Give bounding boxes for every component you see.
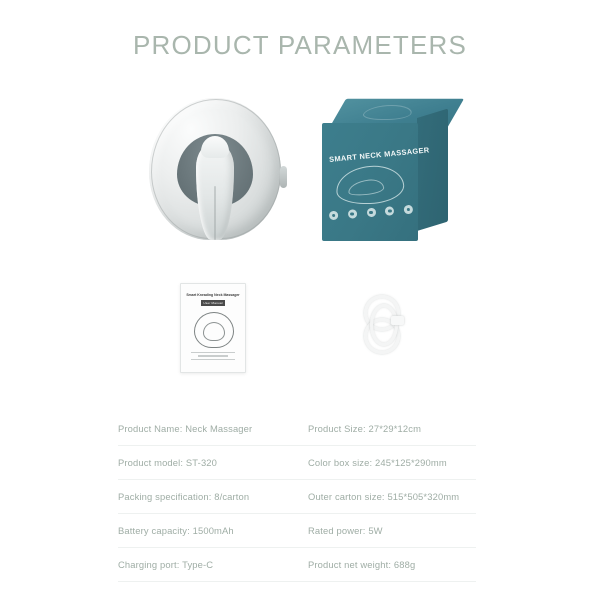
manual-illustration-detail bbox=[203, 322, 225, 341]
spec-product-net-weight: Product net weight: 688g bbox=[308, 559, 476, 570]
spec-color-box-size: Color box size: 245*125*290mm bbox=[308, 457, 476, 468]
spec-charging-port: Charging port: Type-C bbox=[118, 559, 308, 570]
product-image-charging-cable bbox=[355, 291, 417, 355]
spec-product-name: Product Name: Neck Massager bbox=[118, 423, 308, 434]
product-image-retail-box: SMART NECK MASSAGER bbox=[320, 96, 460, 244]
manual-fine-print bbox=[191, 352, 235, 362]
page-title: PRODUCT PARAMETERS bbox=[0, 30, 600, 61]
table-row: Charging port: Type-C Product net weight… bbox=[118, 548, 476, 582]
cable-connector bbox=[391, 316, 404, 325]
product-gallery: SMART NECK MASSAGER Smart Kneading Neck … bbox=[0, 86, 600, 396]
cable-coil-middle bbox=[370, 304, 398, 346]
feature-icon-5 bbox=[404, 205, 414, 215]
table-row: Product model: ST-320 Color box size: 24… bbox=[118, 446, 476, 480]
feature-icon-1 bbox=[329, 211, 339, 221]
table-row: Packing specification: 8/carton Outer ca… bbox=[118, 480, 476, 514]
massager-center-seam bbox=[214, 186, 216, 240]
spec-battery-capacity: Battery capacity: 1500mAh bbox=[118, 525, 308, 536]
product-image-neck-massager bbox=[143, 94, 293, 246]
manual-badge: User Manual bbox=[201, 300, 225, 306]
product-image-user-manual: Smart Kneading Neck Massager User Manual bbox=[180, 283, 246, 373]
spec-rated-power: Rated power: 5W bbox=[308, 525, 476, 536]
box-side-face bbox=[417, 109, 448, 231]
table-row: Battery capacity: 1500mAh Rated power: 5… bbox=[118, 514, 476, 548]
manual-text-line bbox=[198, 355, 229, 356]
spec-packing-specification: Packing specification: 8/carton bbox=[118, 491, 308, 502]
feature-icon-3 bbox=[366, 208, 376, 218]
spec-product-model: Product model: ST-320 bbox=[118, 457, 308, 468]
table-row: Product Name: Neck Massager Product Size… bbox=[118, 412, 476, 446]
manual-title: Smart Kneading Neck Massager bbox=[181, 293, 245, 297]
spec-outer-carton-size: Outer carton size: 515*505*320mm bbox=[308, 491, 476, 502]
massager-power-button bbox=[280, 166, 287, 188]
feature-icon-4 bbox=[385, 206, 395, 216]
manual-text-line bbox=[191, 359, 235, 360]
feature-icon-2 bbox=[347, 209, 357, 219]
manual-text-line bbox=[191, 352, 235, 353]
spec-product-size: Product Size: 27*29*12cm bbox=[308, 423, 476, 434]
specification-table: Product Name: Neck Massager Product Size… bbox=[118, 412, 476, 582]
